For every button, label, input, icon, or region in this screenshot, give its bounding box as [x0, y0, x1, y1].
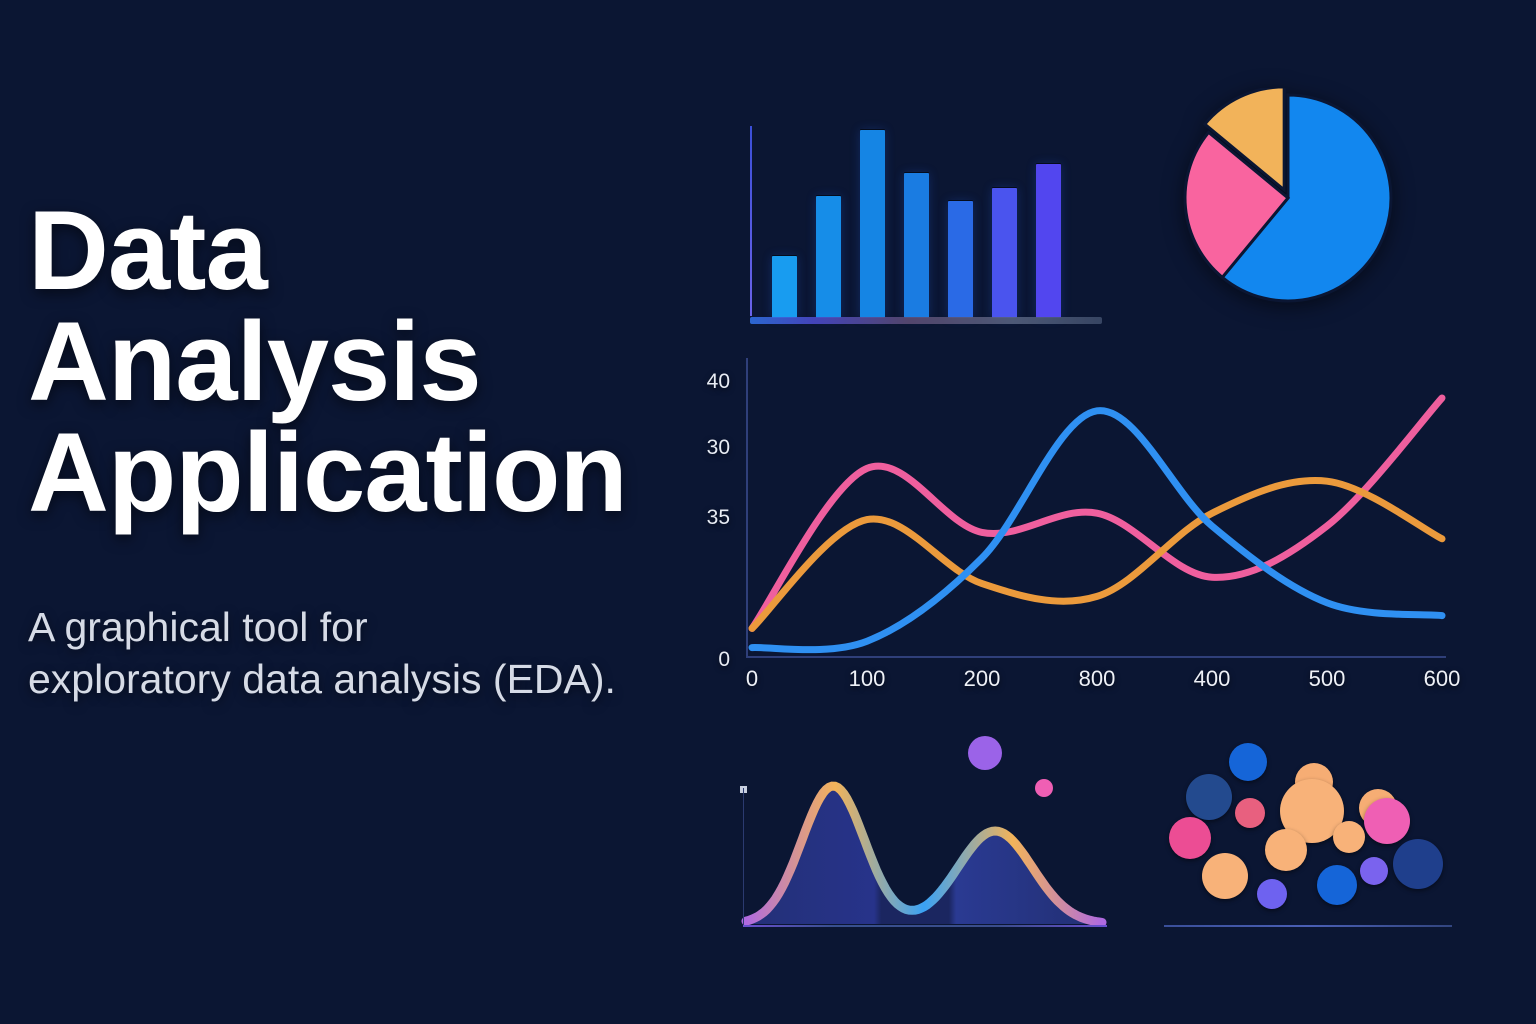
pie-chart-svg: [1178, 88, 1398, 308]
scatter-point-6: [1235, 798, 1265, 828]
y-tick-label: 35: [707, 506, 730, 530]
y-tick-label: 40: [707, 370, 730, 394]
bar-6: [992, 188, 1017, 318]
bar-4: [904, 173, 929, 318]
line-chart: 4030350 0100200800400500600: [690, 352, 1450, 662]
bar-5: [948, 201, 973, 318]
bar-chart: [742, 126, 1102, 324]
scatter-point-12: [1202, 853, 1248, 899]
x-tick-label: 600: [1424, 666, 1461, 692]
blob-large-purple: [968, 736, 1002, 770]
bar-7: [1036, 164, 1061, 318]
line-chart-y-ticks: 4030350: [690, 352, 738, 658]
hero-text-block: Data Analysis Application A graphical to…: [28, 196, 768, 706]
infographic-page: Data Analysis Application A graphical to…: [0, 0, 1536, 1024]
scatter-point-9: [1333, 821, 1365, 853]
scatter-point-7: [1364, 798, 1410, 844]
y-tick-label: 0: [718, 648, 730, 672]
line-chart-x-axis: [746, 656, 1446, 658]
scatter-point-15: [1257, 879, 1287, 909]
page-title: Data Analysis Application: [28, 196, 768, 529]
line-series-blue: [752, 411, 1442, 650]
bar-1: [772, 256, 797, 318]
scatter-chart: [1160, 726, 1460, 931]
bar-chart-bars: [772, 128, 1092, 318]
bar-chart-y-axis: [750, 126, 752, 316]
bar-2: [816, 196, 841, 318]
blob-small-pink: [1035, 779, 1053, 797]
scatter-point-8: [1169, 817, 1211, 859]
scatter-point-3: [1186, 774, 1232, 820]
density-chart: [740, 738, 1110, 930]
density-chart-baseline: [743, 925, 1107, 927]
line-chart-svg: [746, 352, 1450, 658]
y-tick-label: 30: [707, 436, 730, 460]
page-subtitle: A graphical tool for exploratory data an…: [28, 529, 768, 706]
bar-chart-baseline: [750, 317, 1102, 324]
scatter-point-13: [1360, 857, 1388, 885]
x-tick-label: 800: [1079, 666, 1116, 692]
line-chart-x-ticks: 0100200800400500600: [746, 666, 1450, 700]
scatter-chart-baseline: [1164, 925, 1452, 927]
bar-3: [860, 130, 885, 318]
density-chart-svg: [740, 738, 1110, 930]
x-tick-label: 100: [849, 666, 886, 692]
x-tick-label: 500: [1309, 666, 1346, 692]
scatter-point-10: [1265, 829, 1307, 871]
scatter-point-1: [1229, 743, 1267, 781]
density-chart-y-axis: [743, 788, 744, 926]
x-tick-label: 400: [1194, 666, 1231, 692]
x-tick-label: 0: [746, 666, 758, 692]
x-tick-label: 200: [964, 666, 1001, 692]
scatter-point-14: [1317, 865, 1357, 905]
scatter-point-11: [1393, 839, 1443, 889]
pie-chart: [1178, 88, 1398, 308]
